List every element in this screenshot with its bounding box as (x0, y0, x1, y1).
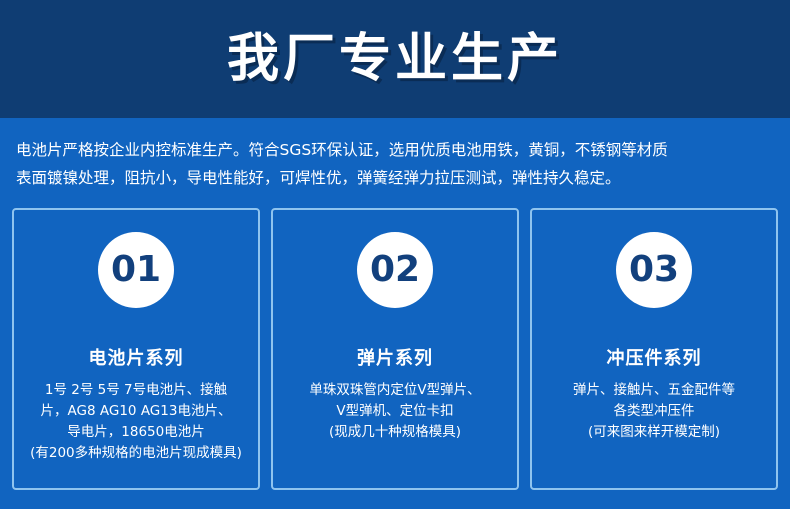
card-desc-line: (有200多种规格的电池片现成模具) (30, 443, 242, 464)
intro-line-2: 表面镀镍处理，阻抗小，导电性能好，可焊性优，弹簧经弹力拉压测试，弹性持久稳定。 (16, 164, 774, 192)
badge-number: 02 (370, 252, 420, 288)
card-desc-line: V型弹机、定位卡扣 (309, 401, 480, 422)
badge-number: 01 (111, 252, 161, 288)
feature-card-03: 03 冲压件系列 弹片、接触片、五金配件等 各类型冲压件 (可来图来样开模定制) (530, 208, 778, 490)
card-desc-line: (可来图来样开模定制) (573, 422, 735, 443)
feature-card-02: 02 弹片系列 单珠双珠管内定位V型弹片、 V型弹机、定位卡扣 (现成几十种规格… (271, 208, 519, 490)
promo-banner-page: 我厂专业生产 电池片严格按企业内控标准生产。符合SGS环保认证，选用优质电池用铁… (0, 0, 790, 509)
card-desc-line: (现成几十种规格模具) (309, 422, 480, 443)
card-description-03: 弹片、接触片、五金配件等 各类型冲压件 (可来图来样开模定制) (565, 380, 743, 443)
card-desc-line: 弹片、接触片、五金配件等 (573, 380, 735, 401)
card-desc-line: 导电片，18650电池片 (30, 422, 242, 443)
badge-number: 03 (629, 252, 679, 288)
feature-card-list: 01 电池片系列 1号 2号 5号 7号电池片、接触 片，AG8 AG10 AG… (12, 208, 778, 496)
card-description-02: 单珠双珠管内定位V型弹片、 V型弹机、定位卡扣 (现成几十种规格模具) (301, 380, 488, 443)
card-title-02: 弹片系列 (357, 344, 433, 370)
header-banner: 我厂专业生产 (0, 0, 790, 118)
badge-circle-01: 01 (98, 232, 174, 308)
card-title-01: 电池片系列 (89, 344, 184, 370)
badge-circle-02: 02 (357, 232, 433, 308)
card-description-01: 1号 2号 5号 7号电池片、接触 片，AG8 AG10 AG13电池片、 导电… (22, 380, 250, 464)
page-title: 我厂专业生产 (227, 33, 563, 85)
feature-card-01: 01 电池片系列 1号 2号 5号 7号电池片、接触 片，AG8 AG10 AG… (12, 208, 260, 490)
card-desc-line: 各类型冲压件 (573, 401, 735, 422)
card-desc-line: 片，AG8 AG10 AG13电池片、 (30, 401, 242, 422)
card-desc-line: 1号 2号 5号 7号电池片、接触 (30, 380, 242, 401)
card-desc-line: 单珠双珠管内定位V型弹片、 (309, 380, 480, 401)
card-title-03: 冲压件系列 (607, 344, 702, 370)
intro-line-1: 电池片严格按企业内控标准生产。符合SGS环保认证，选用优质电池用铁，黄铜，不锈钢… (16, 136, 774, 164)
intro-paragraph: 电池片严格按企业内控标准生产。符合SGS环保认证，选用优质电池用铁，黄铜，不锈钢… (0, 118, 790, 206)
badge-circle-03: 03 (616, 232, 692, 308)
